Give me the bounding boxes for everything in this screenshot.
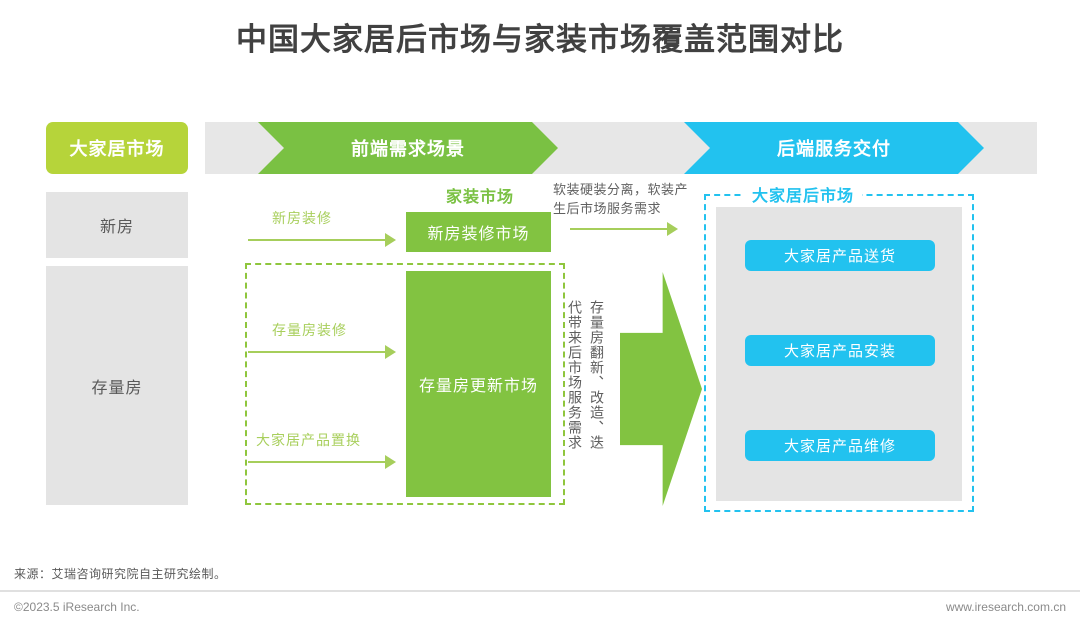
center-note-text: 软装硬装分离，软装产生后市场服务需求 — [553, 180, 695, 218]
source-note: 来源：艾瑞咨询研究院自主研究绘制。 — [14, 565, 227, 582]
arrow-head-icon — [385, 233, 396, 247]
arrow-label-existing-renovation: 存量房装修 — [272, 320, 347, 340]
arrow-label-product-replacement: 大家居产品置换 — [256, 430, 361, 450]
arrow-soft-hard-separation — [570, 221, 678, 237]
infographic-slide: 中国大家居后市场与家装市场覆盖范围对比 大家居市场 前端需求场景 后端服务交付 … — [0, 0, 1080, 625]
arrow-head-icon — [385, 345, 396, 359]
service-pill-delivery: 大家居产品送货 — [745, 240, 935, 271]
vertical-note-right: 存量房翻新、改造、迭 — [590, 300, 604, 450]
service-pill-repair: 大家居产品维修 — [745, 430, 935, 461]
arrow-head-icon — [385, 455, 396, 469]
copyright-text: ©2023.5 iResearch Inc. — [14, 600, 140, 614]
arrow-line — [248, 239, 387, 241]
service-pill-installation: 大家居产品安装 — [745, 335, 935, 366]
aftermarket-panel-title: 大家居后市场 — [744, 182, 862, 206]
arrow-product-replacement — [248, 454, 396, 470]
row-label-new-house: 新房 — [46, 192, 188, 258]
arrow-existing-renovation — [248, 344, 396, 360]
big-flow-arrow-icon — [620, 272, 702, 506]
arrow-line — [248, 351, 387, 353]
stage-chevron-back: 后端服务交付 — [684, 122, 984, 174]
page-title: 中国大家居后市场与家装市场覆盖范围对比 — [0, 14, 1080, 59]
row-label-existing-house: 存量房 — [46, 266, 188, 505]
website-url: www.iresearch.com.cn — [946, 600, 1066, 614]
stage-chevron-front: 前端需求场景 — [258, 122, 558, 174]
arrow-label-new-renovation: 新房装修 — [272, 208, 332, 228]
arrow-head-icon — [667, 222, 678, 236]
footer-divider — [0, 590, 1080, 592]
arrow-new-renovation — [248, 232, 396, 248]
market-label-chip: 大家居市场 — [46, 122, 188, 174]
arrow-line — [570, 228, 669, 230]
vertical-note-left: 代带来后市场服务需求 — [568, 300, 582, 450]
arrow-line — [248, 461, 387, 463]
box-existing-renewal-market: 存量房更新市场 — [406, 271, 551, 497]
box-new-renovation-market: 新房装修市场 — [406, 212, 551, 252]
